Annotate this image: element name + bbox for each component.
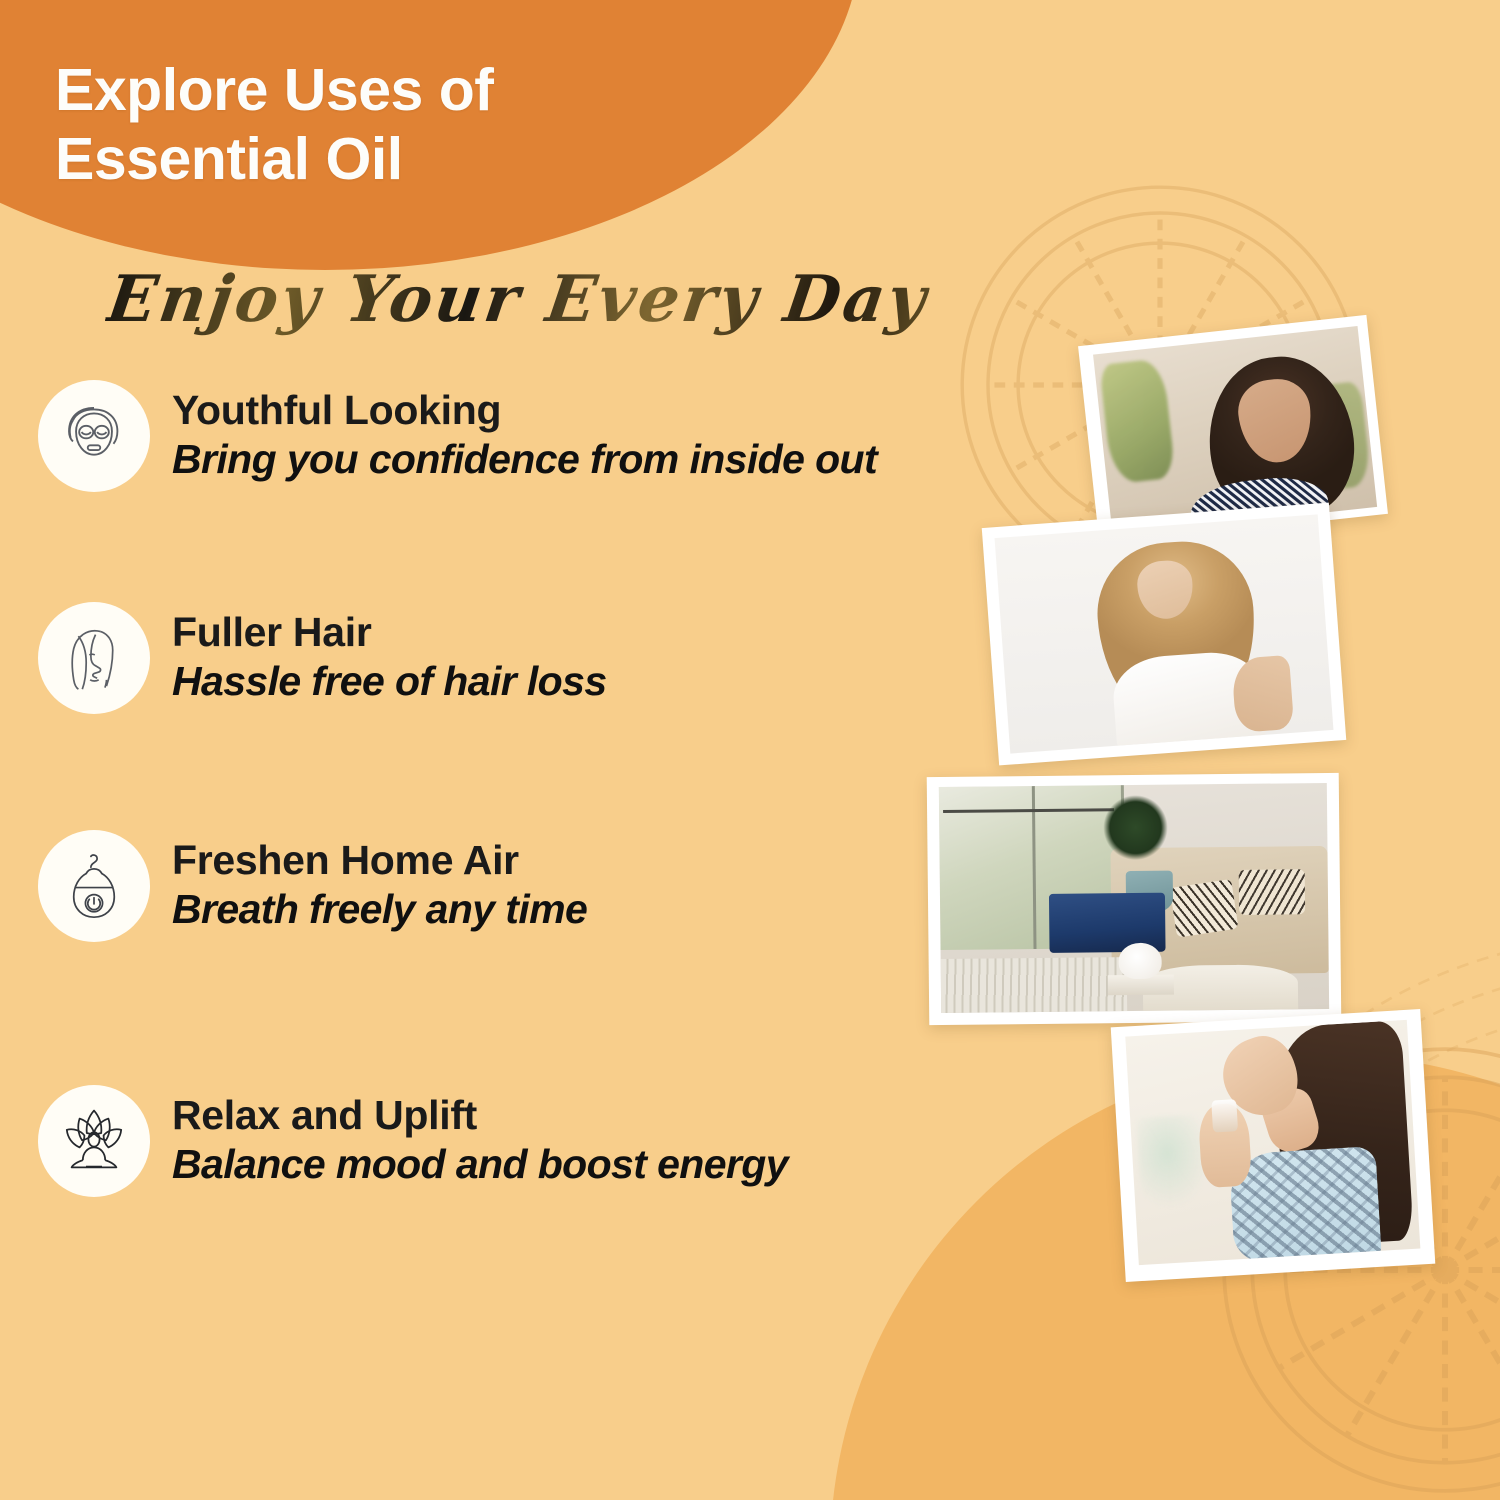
feature-subtitle: Hassle free of hair loss [172, 657, 607, 705]
aroma-diffuser-icon [38, 830, 150, 942]
feature-title: Youthful Looking [172, 387, 877, 435]
decor-plant-left [1100, 358, 1176, 484]
decor-pillow [1238, 869, 1304, 915]
feature-subtitle: Bring you confidence from inside out [172, 435, 877, 483]
face-mask-icon [38, 380, 150, 492]
feature-title: Freshen Home Air [172, 837, 587, 885]
photo-blonde-wavy-hair[interactable] [982, 503, 1346, 766]
decor-pillow [1170, 879, 1239, 937]
photo-cozy-living-room[interactable] [927, 773, 1342, 1025]
feature-text-block: Youthful Looking Bring you confidence fr… [172, 387, 877, 485]
decor-lace-top [1228, 1146, 1381, 1264]
feature-text-block: Freshen Home Air Breath freely any time [172, 837, 587, 935]
long-hair-profile-icon [38, 602, 150, 714]
decor-lamp [1119, 943, 1162, 980]
feature-title: Fuller Hair [172, 609, 607, 657]
feature-item-fuller-hair[interactable]: Fuller Hair Hassle free of hair loss [38, 602, 607, 714]
decor-rug [941, 957, 1128, 1013]
photo-image-area [939, 783, 1329, 1013]
photo-image-area [995, 514, 1334, 753]
decor-perfume-bottle [1211, 1099, 1238, 1132]
feature-item-freshen-home-air[interactable]: Freshen Home Air Breath freely any time [38, 830, 587, 942]
feature-item-relax-and-uplift[interactable]: Relax and Uplift Balance mood and boost … [38, 1085, 788, 1197]
script-tagline: Enjoy Your Every Day [103, 262, 934, 337]
feature-subtitle: Breath freely any time [172, 885, 587, 933]
feature-subtitle: Balance mood and boost energy [172, 1140, 788, 1188]
feature-item-youthful-looking[interactable]: Youthful Looking Bring you confidence fr… [38, 380, 877, 492]
photo-image-area [1093, 326, 1377, 536]
photo-image-area [1125, 1020, 1420, 1265]
feature-title: Relax and Uplift [172, 1092, 788, 1140]
feature-text-block: Relax and Uplift Balance mood and boost … [172, 1092, 788, 1190]
decor-arm [1231, 655, 1295, 733]
photo-woman-applying-perfume[interactable] [1111, 1009, 1436, 1282]
lotus-meditation-icon [38, 1085, 150, 1197]
page-title: Explore Uses of Essential Oil [55, 56, 655, 194]
feature-text-block: Fuller Hair Hassle free of hair loss [172, 609, 607, 707]
